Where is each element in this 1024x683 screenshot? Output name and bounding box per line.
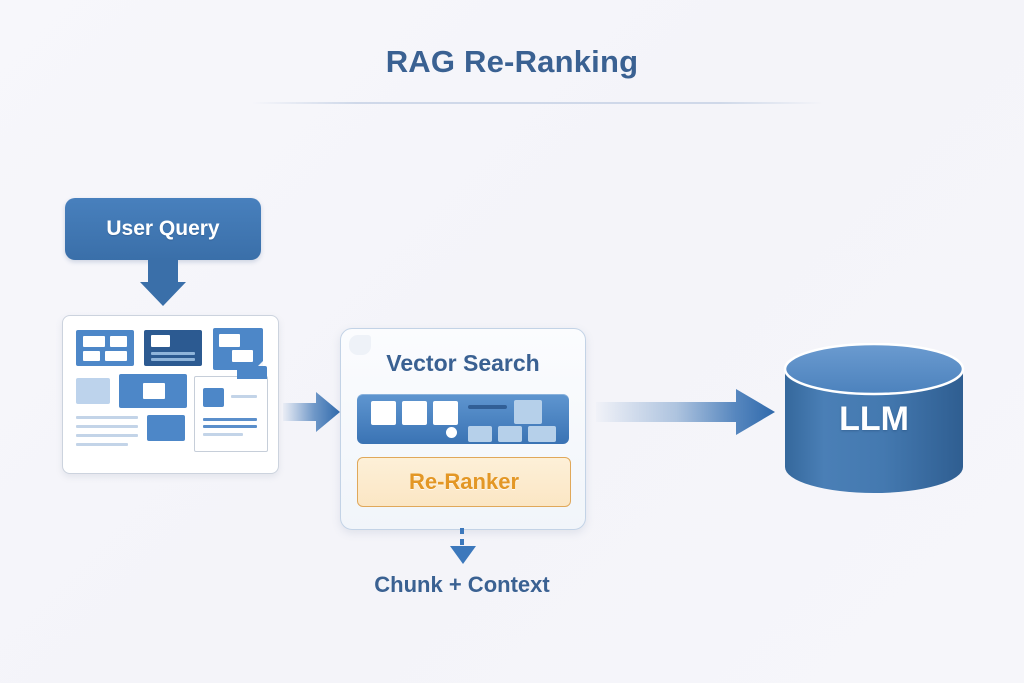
vector-search-results-strip bbox=[357, 394, 569, 444]
node-vector-search[interactable]: Vector Search Re-Ranker bbox=[340, 328, 586, 530]
result-chip bbox=[514, 400, 542, 424]
result-chip bbox=[371, 401, 396, 425]
corpus-card-folded bbox=[213, 328, 263, 370]
diagram-canvas: RAG Re-Ranking User Query bbox=[0, 0, 1024, 683]
node-llm[interactable]: LLM bbox=[783, 343, 965, 493]
corpus-card-document bbox=[194, 376, 268, 452]
result-chip bbox=[433, 401, 458, 425]
node-document-corpus[interactable] bbox=[62, 315, 279, 474]
node-user-query[interactable]: User Query bbox=[65, 198, 261, 260]
result-divider-line bbox=[468, 405, 507, 409]
edge-vector-search-to-chunk-arrowhead bbox=[450, 546, 476, 564]
corpus-card-pale bbox=[76, 378, 110, 404]
re-ranker-label: Re-Ranker bbox=[409, 469, 519, 495]
edge-user-query-to-corpus-stem bbox=[148, 258, 178, 284]
corpus-text-lines bbox=[76, 416, 138, 450]
node-chunk-context-label: Chunk + Context bbox=[312, 572, 612, 598]
edge-corpus-to-vector-search bbox=[283, 390, 341, 434]
title-divider bbox=[252, 102, 824, 104]
llm-label: LLM bbox=[783, 400, 965, 439]
edge-vector-search-to-llm bbox=[596, 386, 776, 438]
corpus-card-media bbox=[119, 374, 187, 408]
vector-search-title: Vector Search bbox=[341, 350, 585, 377]
result-chip bbox=[402, 401, 427, 425]
corpus-card-dark bbox=[144, 330, 202, 366]
corpus-card-small bbox=[147, 415, 185, 441]
corpus-card-grid bbox=[76, 330, 134, 366]
result-dot bbox=[446, 427, 457, 438]
result-chip bbox=[528, 426, 556, 442]
page-title: RAG Re-Ranking bbox=[0, 44, 1024, 80]
corpus-card-document-tab bbox=[237, 366, 267, 379]
result-chip bbox=[498, 426, 522, 442]
user-query-label: User Query bbox=[106, 217, 219, 241]
edge-user-query-to-corpus-arrowhead bbox=[140, 282, 186, 306]
node-re-ranker[interactable]: Re-Ranker bbox=[357, 457, 571, 507]
result-chip bbox=[468, 426, 492, 442]
